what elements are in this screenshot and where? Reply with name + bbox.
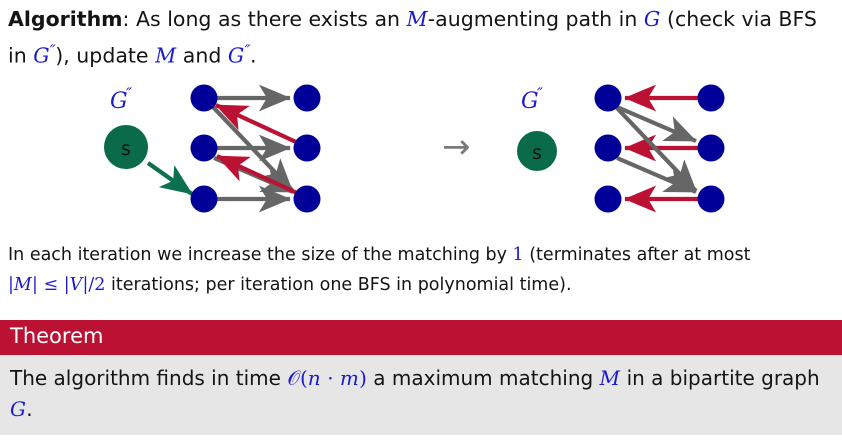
left-graph-label: G (110, 89, 128, 114)
divide-two: /2 (88, 275, 105, 295)
bipartite-graph-figure: G ″ s (0, 72, 842, 230)
right-graph-label: G (521, 89, 539, 114)
iteration-note: In each iteration we increase the size o… (8, 240, 834, 300)
symbol-G-1: G (644, 7, 661, 31)
theorem-text-2: a maximum matching (367, 366, 600, 390)
algorithm-text-6: . (250, 44, 257, 68)
algorithm-text-5: and (176, 44, 228, 68)
symbol-M-bound: M (14, 275, 32, 295)
right-node-v3[interactable] (698, 186, 725, 213)
iteration-text-2: (terminates after at most (524, 245, 751, 265)
edge-u2-to-v3-right (617, 158, 696, 192)
theorem-text-4: . (26, 397, 32, 421)
left-node-v1[interactable] (294, 85, 321, 112)
edge-u1-to-v2-right (617, 107, 696, 141)
symbol-G-theorem: G (10, 397, 26, 421)
theorem-title: Theorem (0, 320, 842, 355)
left-node-u3[interactable] (191, 186, 218, 213)
paren-close: ) (359, 366, 367, 390)
symbol-m: m (340, 366, 359, 390)
left-source-node-label: s (121, 138, 131, 160)
right-node-v2[interactable] (698, 135, 725, 162)
right-node-u2[interactable] (595, 135, 622, 162)
algorithm-label: Algorithm (8, 7, 123, 31)
symbol-G-2: G (33, 44, 50, 68)
theorem-body: The algorithm finds in time 𝒪(n · m) a m… (0, 355, 842, 435)
left-node-v3[interactable] (294, 186, 321, 213)
iteration-number-one: 1 (513, 245, 524, 265)
right-node-u1[interactable] (595, 85, 622, 112)
paren-open: ( (300, 366, 308, 390)
cdot-operator: · (321, 366, 340, 390)
right-graph: G ″ s (517, 84, 725, 213)
symbol-M-1: M (407, 7, 428, 31)
algorithm-text-4: ), update (55, 44, 155, 68)
edge-v3-to-u2 (217, 156, 297, 193)
iteration-text-3: iterations; per iteration one BFS in pol… (105, 275, 571, 295)
algorithm-statement: Algorithm: As long as there exists an M-… (8, 4, 834, 72)
left-graph-label-prime: ″ (126, 84, 132, 103)
symbol-n: n (308, 366, 321, 390)
graph-canvas: G ″ s (0, 72, 842, 230)
symbol-M-theorem: M (600, 366, 621, 390)
big-o-symbol: 𝒪 (287, 366, 300, 390)
symbol-G-3: G (228, 44, 245, 68)
transition-arrow-icon: → (442, 127, 471, 167)
theorem-block: Theorem The algorithm finds in time 𝒪(n … (0, 320, 842, 435)
left-node-u1[interactable] (191, 85, 218, 112)
left-node-v2[interactable] (294, 135, 321, 162)
algorithm-text-1: As long as there exists an (129, 7, 406, 31)
theorem-text-3: in a bipartite graph (620, 366, 819, 390)
leq-operator: ≤ (38, 275, 64, 295)
left-graph: G ″ s (104, 84, 321, 213)
iteration-text-1: In each iteration we increase the size o… (8, 245, 513, 265)
symbol-M-2: M (155, 44, 176, 68)
slide: Algorithm: As long as there exists an M-… (0, 0, 842, 443)
algorithm-text-2: -augmenting path in (428, 7, 644, 31)
right-node-v1[interactable] (698, 85, 725, 112)
theorem-text-1: The algorithm finds in time (10, 366, 287, 390)
right-source-node-label: s (532, 142, 542, 164)
right-graph-label-prime: ″ (537, 84, 543, 103)
left-node-u2[interactable] (191, 135, 218, 162)
right-node-u3[interactable] (595, 186, 622, 213)
edge-s-to-u3 (148, 163, 192, 194)
symbol-V-bound: V (70, 275, 83, 295)
